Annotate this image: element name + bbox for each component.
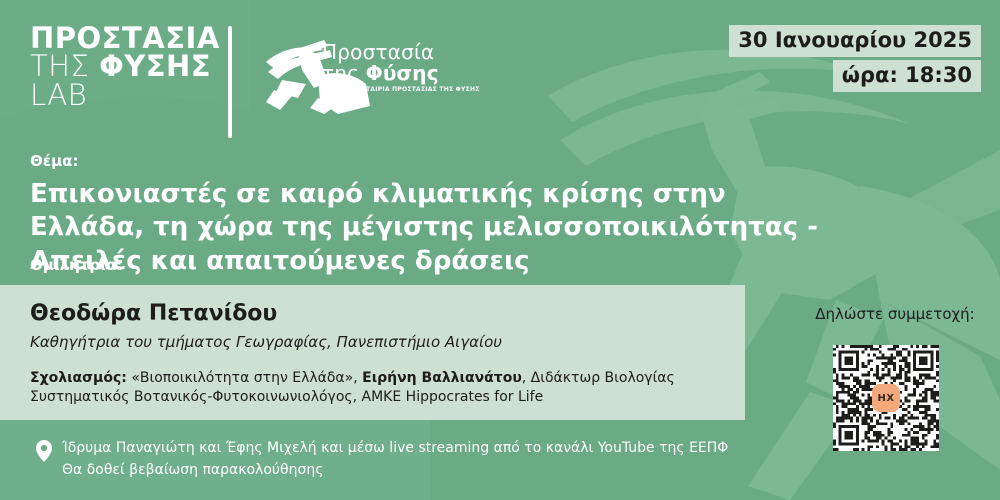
venue-line-1: Ίδρυμα Παναγιώτη και Έφης Μιχελή και μέσ… — [62, 438, 782, 460]
speaker-role: Καθηγήτρια του τμήματος Γεωγραφίας, Πανε… — [30, 333, 745, 352]
emblem-line-1: Προστασία — [322, 42, 480, 63]
lab-logo: ΠΡΟΣΤΑΣΙΑ ΤΗΣ ΦΥΣΗΣ LAB — [30, 24, 220, 109]
speaker-card: Θεοδώρα Πετανίδου Καθηγήτρια του τμήματο… — [0, 285, 745, 420]
lab-logo-line-2-bold: ΦΥΣΗΣ — [99, 49, 211, 83]
commentary-title: «Βιοποικιλότητα στην Ελλάδα», — [131, 370, 357, 386]
event-poster: ΠΡΟΣΤΑΣΙΑ ΤΗΣ ΦΥΣΗΣ LAB Προστασία της Φύ… — [0, 0, 1000, 500]
event-date-badge: 30 Ιανουαρίου 2025 — [729, 25, 981, 57]
commentary-label: Σχολιασμός: — [30, 370, 127, 386]
lab-logo-line-3: LAB — [30, 81, 220, 109]
map-pin-icon — [36, 440, 52, 462]
emblem-wordmark: Προστασία της Φύσης ΕΛΛΗΝΙΚΗ ΕΤΑΙΡΙΑ ΠΡΟ… — [322, 42, 480, 93]
emblem-line-2-bold: Φύσης — [366, 61, 439, 85]
logo-divider — [228, 26, 232, 138]
theme-label: Θέμα: — [30, 152, 78, 170]
emblem-line-2-light: της — [322, 61, 359, 85]
qr-center-logo: HX — [872, 384, 900, 412]
registration-label: Δηλώστε συμμετοχή: — [800, 305, 990, 323]
commentary-person: Ειρήνη Βαλλιανάτου — [362, 370, 522, 386]
lab-logo-line-2: ΤΗΣ ΦΥΣΗΣ — [30, 52, 220, 80]
emblem-line-2: της Φύσης — [322, 63, 480, 84]
lab-logo-line-1: ΠΡΟΣΤΑΣΙΑ — [30, 24, 220, 52]
commentary-text: Σχολιασμός: «Βιοποικιλότητα στην Ελλάδα»… — [30, 369, 730, 408]
speaker-name: Θεοδώρα Πετανίδου — [30, 301, 745, 327]
venue-info: Ίδρυμα Παναγιώτη και Έφης Μιχελή και μέσ… — [62, 438, 782, 481]
venue-line-2: Θα δοθεί βεβαίωση παρακολούθησης — [62, 460, 782, 482]
emblem-tagline: ΕΛΛΗΝΙΚΗ ΕΤΑΙΡΙΑ ΠΡΟΣΤΑΣΙΑΣ ΤΗΣ ΦΥΣΗΣ — [322, 87, 480, 93]
event-title: Επικονιαστές σε καιρό κλιματικής κρίσης … — [30, 178, 835, 278]
speaker-label: Ομιλήτρια: — [30, 256, 122, 274]
event-time-badge: ώρα: 18:30 — [833, 60, 981, 92]
